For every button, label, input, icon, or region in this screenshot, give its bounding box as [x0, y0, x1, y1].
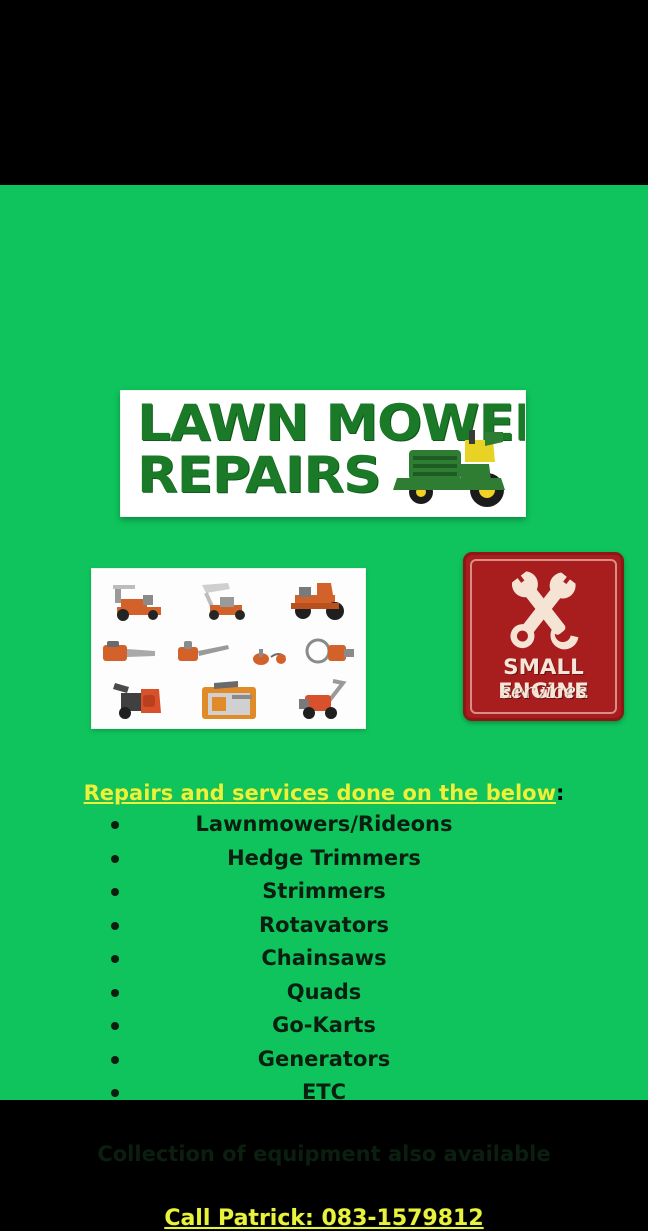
poster-body: LAWN MOWER REPAIRS — [0, 185, 648, 1100]
bullet-icon — [111, 955, 119, 963]
ride-on-tractor-icon — [283, 577, 355, 623]
push-mower-icon — [194, 579, 262, 623]
bullet-icon — [111, 855, 119, 863]
services-heading-colon: : — [556, 781, 564, 805]
crossed-wrenches-icon — [483, 563, 603, 655]
list-item: Go-Karts — [0, 1010, 648, 1044]
bullet-icon — [111, 989, 119, 997]
bullet-icon — [111, 1056, 119, 1064]
rotavator-icon — [289, 677, 353, 723]
collage-row-machines — [92, 673, 365, 723]
hedge-trimmer-icon — [174, 637, 232, 671]
list-item: Quads — [0, 977, 648, 1011]
list-item-label: ETC — [0, 1077, 648, 1107]
riding-lawn-mower-icon — [369, 420, 519, 508]
equipment-collage — [91, 568, 366, 729]
list-item: Generators — [0, 1044, 648, 1078]
list-item-label: Hedge Trimmers — [0, 843, 648, 873]
trimmer-head-icon — [247, 641, 287, 671]
logo-subtitle: services — [466, 679, 621, 703]
poster-screen: LAWN MOWER REPAIRS — [0, 0, 648, 1200]
list-item: Chainsaws — [0, 943, 648, 977]
list-item-label: Generators — [0, 1044, 648, 1074]
zero-turn-mower-icon — [103, 579, 173, 623]
small-engine-services-logo: SMALL ENGINE services — [463, 552, 624, 721]
bullet-icon — [111, 888, 119, 896]
services-list: Lawnmowers/Rideons Hedge Trimmers Strimm… — [0, 809, 648, 1111]
list-item: Lawnmowers/Rideons — [0, 809, 648, 843]
headline-banner: LAWN MOWER REPAIRS — [120, 390, 526, 517]
collection-note: Collection of equipment also available — [0, 1142, 648, 1166]
list-item: Rotavators — [0, 910, 648, 944]
list-item: ETC — [0, 1077, 648, 1111]
collage-row-handheld — [92, 627, 365, 671]
services-heading: Repairs and services done on the below: — [0, 781, 648, 805]
list-item-label: Lawnmowers/Rideons — [0, 809, 648, 839]
list-item-label: Rotavators — [0, 910, 648, 940]
generator-icon — [194, 677, 264, 723]
bullet-icon — [111, 821, 119, 829]
list-item-label: Strimmers — [0, 876, 648, 906]
bullet-icon — [111, 1022, 119, 1030]
list-item: Hedge Trimmers — [0, 843, 648, 877]
call-to-action[interactable]: Call Patrick: 083-1579812 — [0, 1206, 648, 1231]
chainsaw-icon — [99, 637, 159, 671]
list-item-label: Go-Karts — [0, 1010, 648, 1040]
list-item-label: Chainsaws — [0, 943, 648, 973]
list-item: Strimmers — [0, 876, 648, 910]
bullet-icon — [111, 1089, 119, 1097]
services-heading-highlight: Repairs and services done on the below — [84, 781, 556, 805]
leaf-blower-icon — [302, 637, 358, 671]
list-item-label: Quads — [0, 977, 648, 1007]
snow-blower-icon — [105, 677, 169, 723]
bullet-icon — [111, 922, 119, 930]
collage-row-mowers — [92, 575, 365, 623]
